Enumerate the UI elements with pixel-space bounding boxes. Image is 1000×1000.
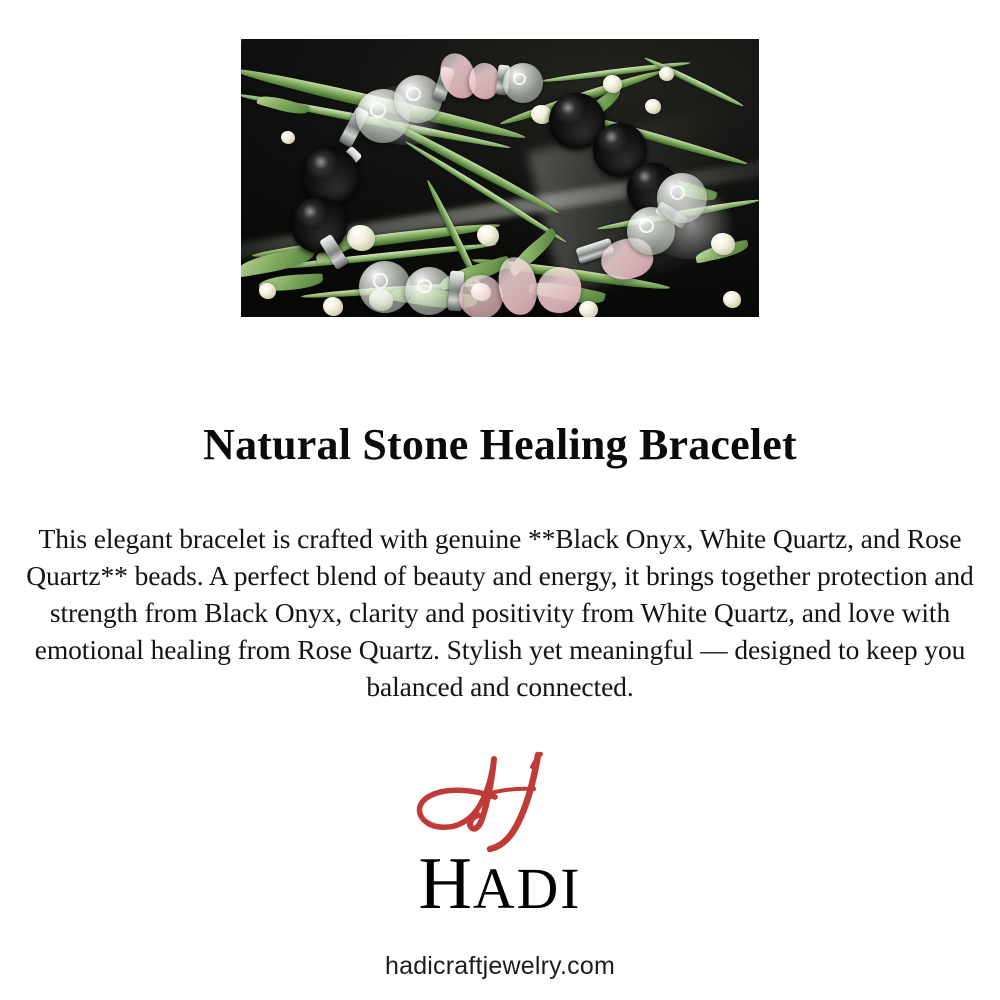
bead-rose-quartz — [459, 275, 503, 317]
product-description: This elegant bracelet is crafted with ge… — [22, 520, 978, 705]
product-card: Natural Stone Healing Bracelet This eleg… — [0, 0, 1000, 1000]
monogram-h-icon — [400, 745, 600, 855]
flower-bud — [711, 233, 735, 255]
product-photo-canvas — [241, 39, 759, 317]
flower-bud — [659, 67, 674, 81]
flower-bud — [347, 225, 375, 251]
brand-logo: HADI — [0, 745, 1000, 920]
flower-bud — [645, 99, 661, 114]
bead-white-quartz — [657, 173, 707, 223]
flower-bud — [477, 225, 499, 246]
brand-wordmark-rest: ADI — [473, 858, 582, 921]
bead-white-quartz — [359, 261, 411, 313]
flower-bud — [603, 75, 622, 93]
website-url[interactable]: hadicraftjewelry.com — [0, 952, 1000, 981]
brand-wordmark-initial: H — [418, 843, 472, 925]
flower-bud — [281, 131, 295, 144]
product-photo — [241, 39, 759, 317]
flower-bud — [259, 283, 276, 299]
bead-white-quartz — [503, 63, 543, 103]
brand-wordmark: HADI — [418, 849, 581, 920]
page-title: Natural Stone Healing Bracelet — [0, 421, 1000, 469]
flower-bud — [723, 291, 741, 308]
flower-bud — [579, 301, 598, 317]
bead-black-onyx — [301, 147, 359, 205]
bead-black-onyx — [291, 197, 347, 253]
flower-bud — [323, 297, 343, 316]
bead-white-quartz — [405, 267, 453, 315]
